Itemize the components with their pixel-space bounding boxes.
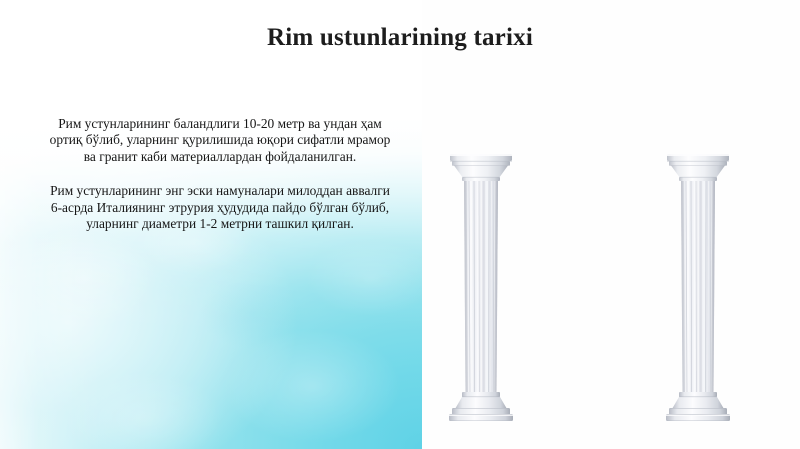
paragraph-2: Рим устунларининг энг эски намуналари ми… — [46, 183, 394, 232]
slide-canvas: Rim ustunlarining tarixi Рим устунларини… — [0, 0, 800, 449]
paragraph-1: Рим устунларининг баландлиги 10-20 метр … — [46, 116, 394, 165]
page-title: Rim ustunlarining tarixi — [0, 24, 800, 52]
roman-column-left-image — [433, 143, 529, 432]
roman-column-right-image — [650, 143, 746, 432]
body-text-block: Рим устунларининг баландлиги 10-20 метр … — [46, 116, 394, 232]
